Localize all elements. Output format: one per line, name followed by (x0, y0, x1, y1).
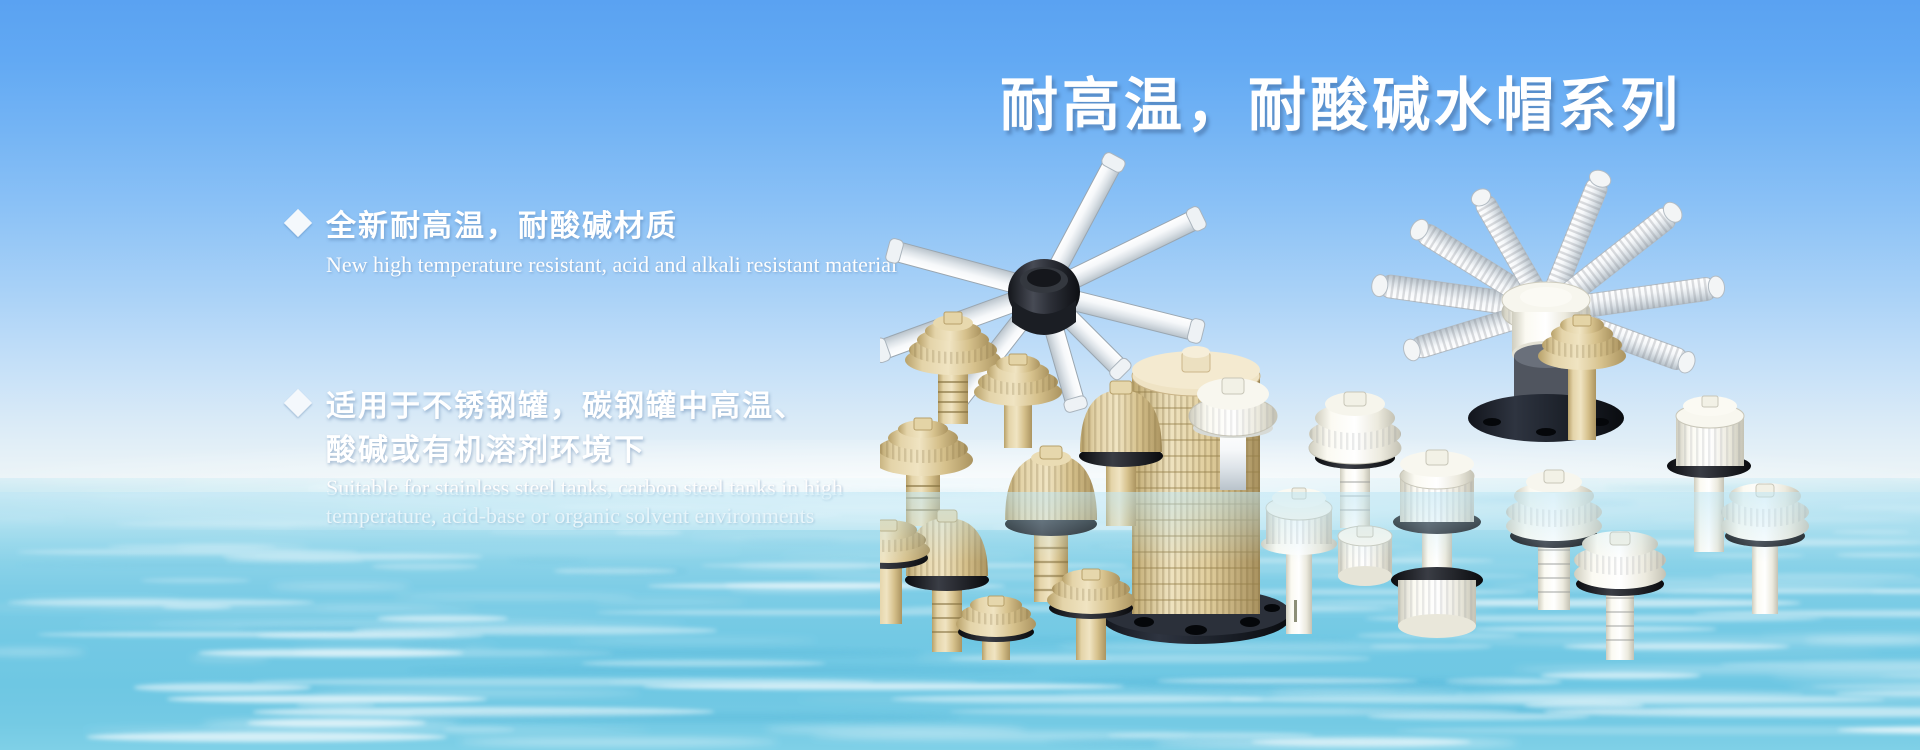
strainer-cap-tan-c (880, 418, 973, 526)
dome-nozzle-tan-e (956, 596, 1036, 660)
filter-nozzle-white-i (1721, 483, 1809, 614)
filter-nozzle-white-g (1338, 526, 1392, 586)
feature-bullet-1-en: New high temperature resistant, acid and… (326, 251, 897, 279)
feature-bullet-1-cn: 全新耐高温，耐酸碱材质 (326, 205, 678, 249)
filter-nozzle-white-b (1391, 450, 1483, 638)
product-banner: 耐高温，耐酸碱水帽系列 全新耐高温，耐酸碱材质 New high tempera… (0, 0, 1920, 750)
feature-bullet-2: 适用于不锈钢罐，碳钢罐中高温、 酸碱或有机溶剂环境下 Suitable for … (288, 385, 843, 530)
feature-bullet-2-en: Suitable for stainless steel tanks, carb… (326, 474, 843, 530)
product-group-image (880, 140, 1920, 660)
dome-nozzle-tan-d (1047, 569, 1135, 660)
feature-bullet-1: 全新耐高温，耐酸碱材质 New high temperature resista… (288, 205, 897, 279)
page-title: 耐高温，耐酸碱水帽系列 (1000, 58, 1682, 142)
product-illustration (880, 140, 1920, 660)
diamond-icon (284, 389, 312, 417)
filter-nozzle-white-f (1574, 531, 1666, 660)
lateral-star-assembly-right (1370, 167, 1726, 442)
diamond-icon (284, 209, 312, 237)
feature-bullet-2-cn: 适用于不锈钢罐，碳钢罐中高温、 酸碱或有机溶剂环境下 (326, 385, 806, 473)
